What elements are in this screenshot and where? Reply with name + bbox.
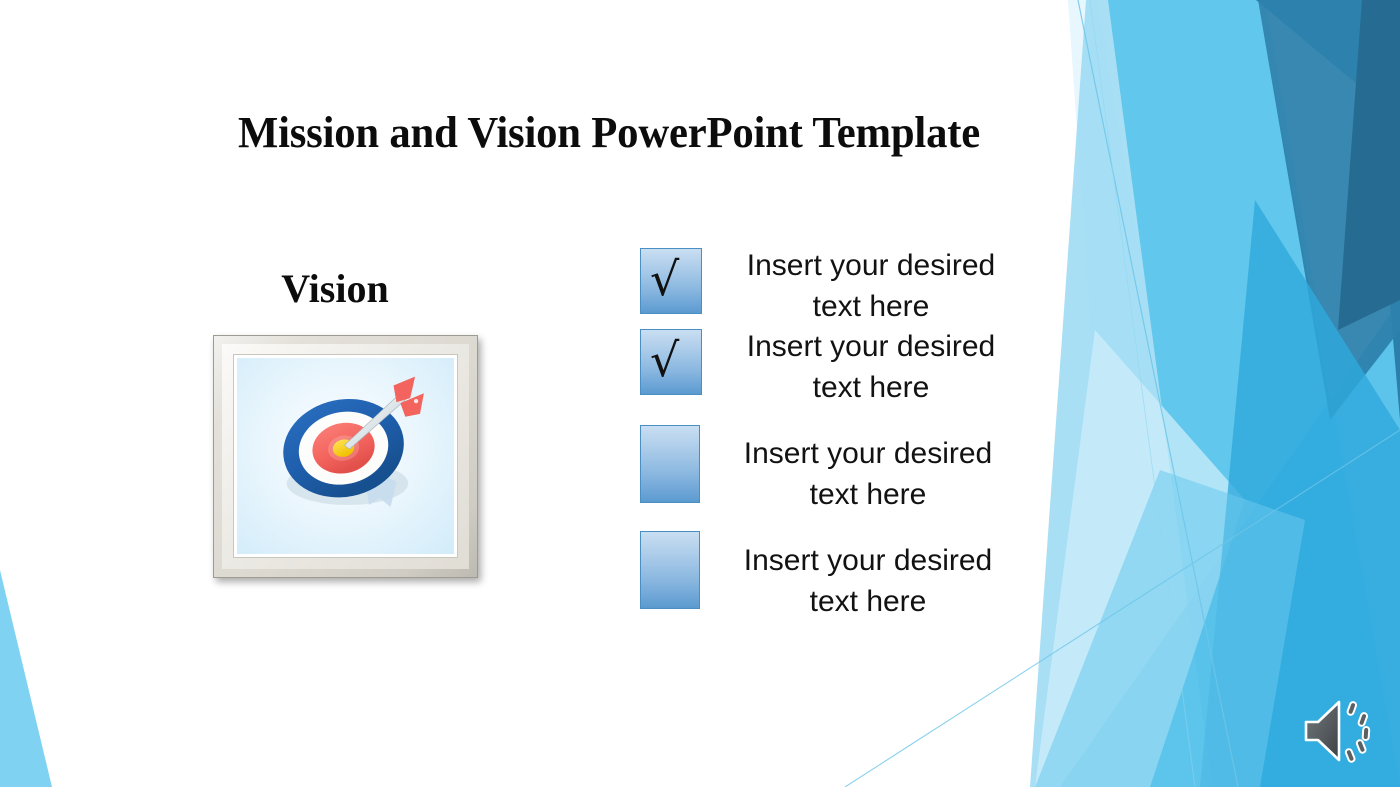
checklist-item-label: Insert your desired text here [702,245,1030,327]
arrow-fletching-1 [394,377,416,402]
checklist-item[interactable]: √ Insert your desired text here [640,329,1030,408]
checkbox-3[interactable] [640,425,700,503]
audio-speaker-icon[interactable] [1302,694,1384,768]
checkbox-2[interactable]: √ [640,329,702,395]
checklist-item[interactable]: Insert your desired text here [640,425,1030,515]
target-bullseye-icon [237,358,454,554]
deco-shape-bottom-left [0,570,52,787]
checklist-item-label: Insert your desired text here [700,540,1030,622]
checklist-item-label: Insert your desired text here [700,433,1030,515]
check-icon: √ [650,256,679,302]
checklist-item[interactable]: Insert your desired text here [640,531,1030,622]
checkbox-4[interactable] [640,531,700,609]
checklist-item-label: Insert your desired text here [702,326,1030,408]
checklist: √ Insert your desired text here √ Insert… [640,248,1030,622]
check-icon: √ [650,337,679,383]
checklist-item[interactable]: √ Insert your desired text here [640,248,1030,327]
checkbox-1[interactable]: √ [640,248,702,314]
arrow-fletching-dot [414,399,418,403]
speaker-waves [1345,701,1369,762]
vision-image-frame [213,335,478,578]
page-title: Mission and Vision PowerPoint Template [238,106,1043,160]
presentation-slide: Mission and Vision PowerPoint Template V… [0,0,1400,787]
vision-heading: Vision [180,265,490,313]
picture-frame-photo [237,358,454,554]
speaker-cone [1306,702,1339,760]
